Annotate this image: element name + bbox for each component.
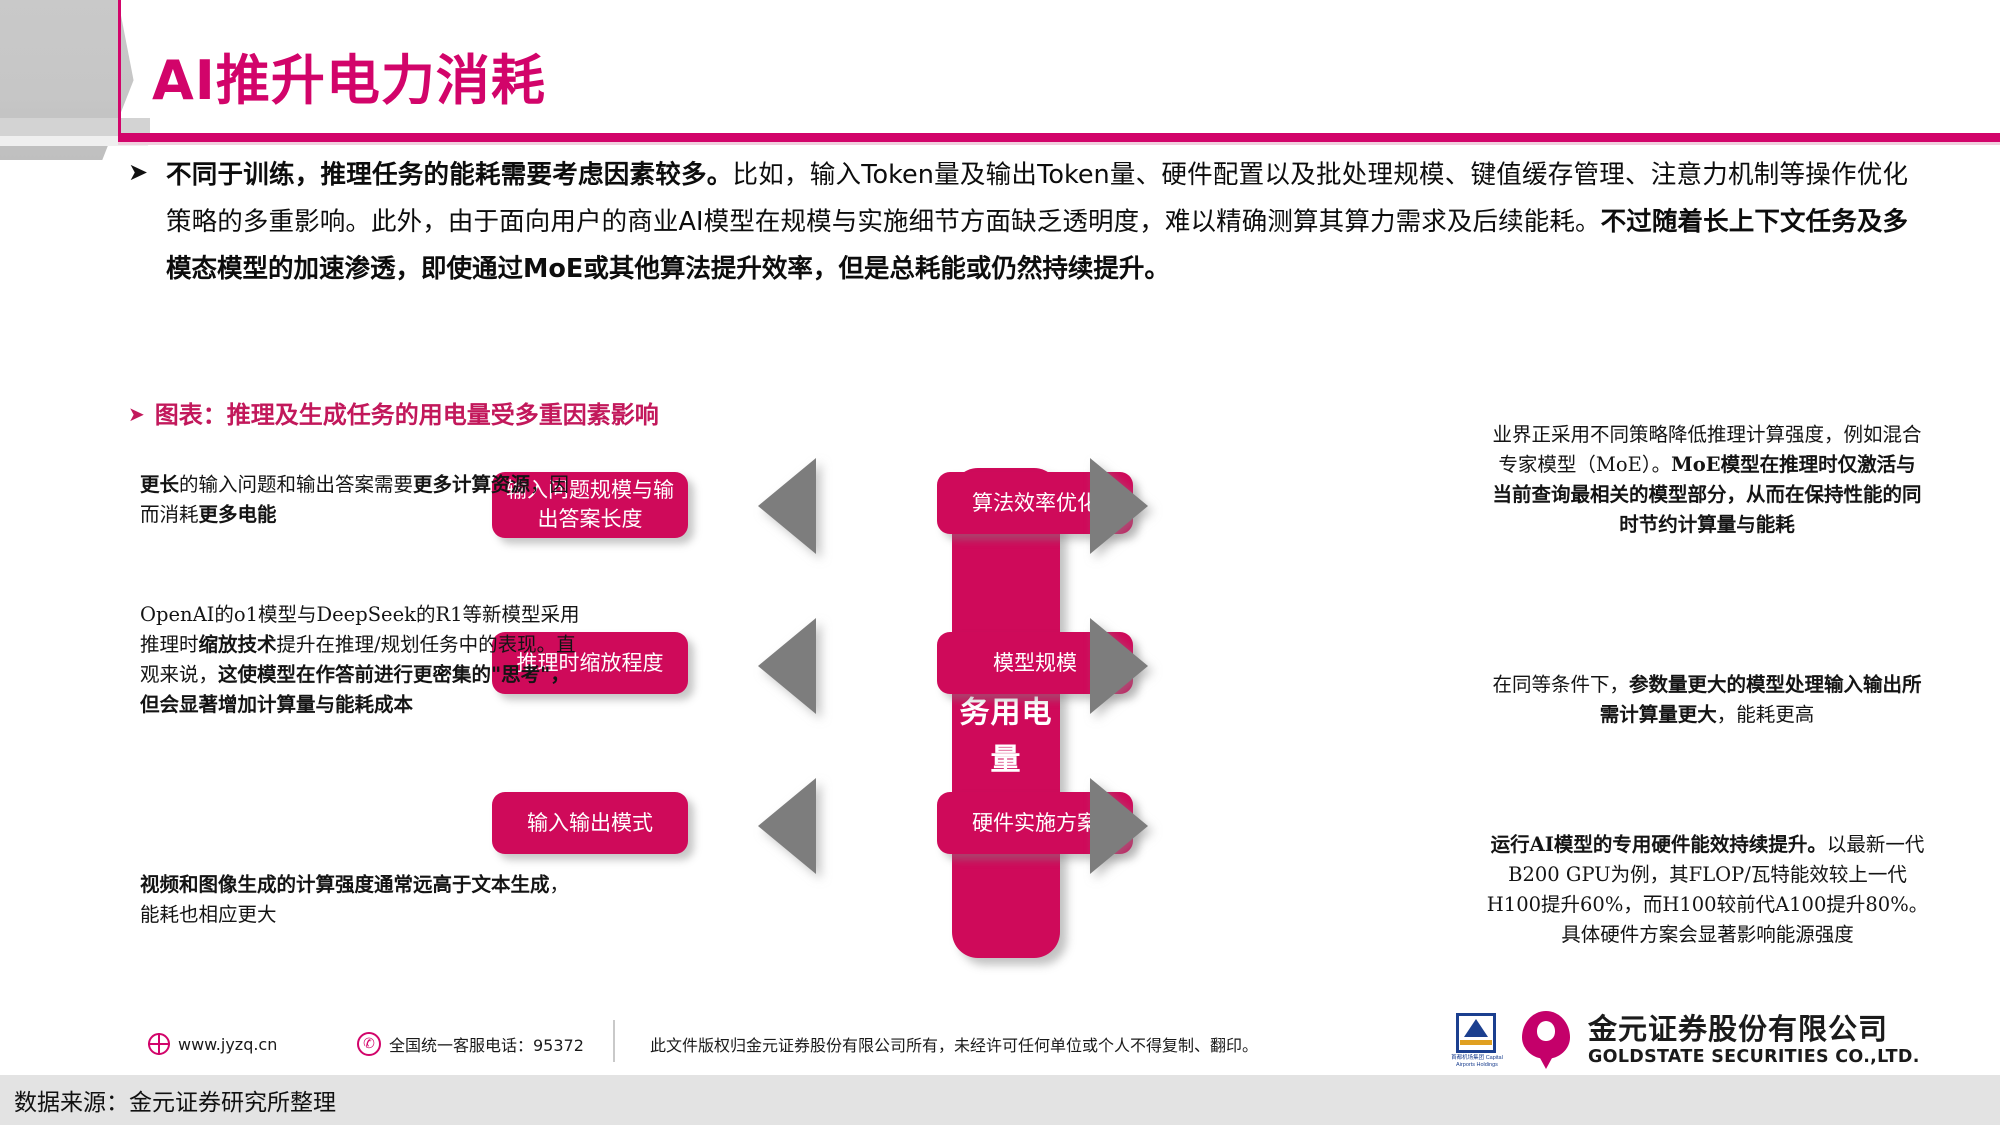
annotation-right-3: 运行AI模型的专用硬件能效持续提升。以最新一代B200 GPU为例，其FLOP/…	[1485, 830, 1930, 950]
annotation-left-3: 视频和图像生成的计算强度通常远高于文本生成，能耗也相应更大	[140, 870, 580, 930]
footer-hotline: ✆ 全国统一客服电话：95372	[357, 1032, 584, 1056]
diagram-node-left-3[interactable]: 输入输出模式	[492, 792, 688, 854]
logo-sub-label: 首都机场集团 Capital Airports Holdings	[1450, 1055, 1504, 1069]
goldstate-mark-icon	[1516, 1011, 1576, 1069]
annotation-left-1-run-4: 更多电能	[199, 503, 277, 526]
footer-hotline-label: 全国统一客服电话：95372	[389, 1032, 584, 1056]
lead-paragraph-block: ➤ 不同于训练，推理任务的能耗需要考虑因素较多。比如，输入Token量及输出To…	[128, 152, 1908, 293]
annotation-left-3-run-0: 视频和图像生成的计算强度通常远高于文本生成	[140, 873, 550, 896]
annotation-left-2: OpenAI的o1模型与DeepSeek的R1等新模型采用推理时缩放技术提升在推…	[140, 600, 580, 720]
arrow-right-2-icon	[1090, 618, 1148, 714]
chart-caption: ➤图表：推理及生成任务的用电量受多重因素影响	[128, 395, 659, 430]
globe-icon	[148, 1033, 170, 1055]
annotation-left-1: 更长的输入问题和输出答案需要更多计算资源，因而消耗更多电能	[140, 470, 580, 530]
diagram-node-right-1-label: 算法效率优化	[972, 489, 1098, 518]
arrow-left-2-icon	[758, 618, 816, 714]
annotation-right-2-run-2: ，能耗更高	[1717, 703, 1815, 726]
title-vertical-separator	[118, 0, 121, 133]
lead-paragraph-seg1: 不同于训练，推理任务的能耗需要考虑因素较多。	[166, 160, 733, 190]
diagram-node-left-3-label: 输入输出模式	[527, 809, 653, 838]
arrow-left-3-icon	[758, 778, 816, 874]
caption-text: 图表：推理及生成任务的用电量受多重因素影响	[155, 395, 659, 430]
footer-website[interactable]: www.jyzq.cn	[148, 1033, 277, 1055]
logo-text-block: 金元证券股份有限公司 GOLDSTATE SECURITIES CO.,LTD.	[1588, 1013, 1920, 1068]
title-rule-thin	[118, 142, 2000, 145]
footer-divider	[613, 1020, 615, 1062]
company-logo: 首都机场集团 Capital Airports Holdings 金元证券股份有…	[1450, 1008, 1970, 1072]
title-rule	[118, 133, 2000, 142]
logo-english-name: GOLDSTATE SECURITIES CO.,LTD.	[1588, 1046, 1920, 1068]
annotation-left-1-run-2: 更多计算资源	[413, 473, 530, 496]
page-title: AI推升电力消耗	[152, 36, 546, 115]
phone-icon: ✆	[357, 1032, 381, 1056]
capital-airports-logo-icon: 首都机场集团 Capital Airports Holdings	[1450, 1011, 1504, 1069]
diagram-center-node[interactable]: 推理任务用电量	[952, 468, 1060, 958]
annotation-right-1: 业界正采用不同策略降低推理计算强度，例如混合专家模型（MoE）。MoE模型在推理…	[1492, 420, 1922, 540]
footer-copyright: 此文件版权归金元证券股份有限公司所有，未经许可任何单位或个人不得复制、翻印。	[650, 1032, 1258, 1056]
annotation-left-1-run-1: 的输入问题和输出答案需要	[179, 473, 413, 496]
source-text: 数据来源：金元证券研究所整理	[14, 1083, 336, 1117]
arrow-left-1-icon	[758, 458, 816, 554]
lead-paragraph: 不同于训练，推理任务的能耗需要考虑因素较多。比如，输入Token量及输出Toke…	[166, 152, 1908, 293]
caption-bullet-icon: ➤	[128, 402, 145, 427]
arrow-right-3-icon	[1090, 778, 1148, 874]
logo-chinese-name: 金元证券股份有限公司	[1588, 1013, 1920, 1046]
arrow-right-1-icon	[1090, 458, 1148, 554]
annotation-left-2-run-1: 缩放技术	[199, 633, 277, 656]
annotation-right-3-run-0: 运行AI模型的专用硬件能效持续提升。	[1491, 833, 1827, 856]
diagram-node-right-2-label: 模型规模	[993, 649, 1077, 678]
bullet-icon: ➤	[128, 158, 148, 187]
annotation-right-2-run-0: 在同等条件下，	[1492, 673, 1629, 696]
annotation-left-1-run-0: 更长	[140, 473, 179, 496]
footer-website-label: www.jyzq.cn	[178, 1035, 277, 1054]
diagram-area: 推理任务用电量 输入问题规模与输出答案长度 推理时缩放程度 输入输出模式 算法效…	[0, 430, 2000, 1000]
diagram-node-right-3-label: 硬件实施方案	[972, 809, 1098, 838]
source-bar: 数据来源：金元证券研究所整理	[0, 1075, 2000, 1125]
slide-root: AI推升电力消耗 ➤ 不同于训练，推理任务的能耗需要考虑因素较多。比如，输入To…	[0, 0, 2000, 1125]
annotation-right-2: 在同等条件下，参数量更大的模型处理输入输出所需计算量更大，能耗更高	[1492, 670, 1922, 730]
